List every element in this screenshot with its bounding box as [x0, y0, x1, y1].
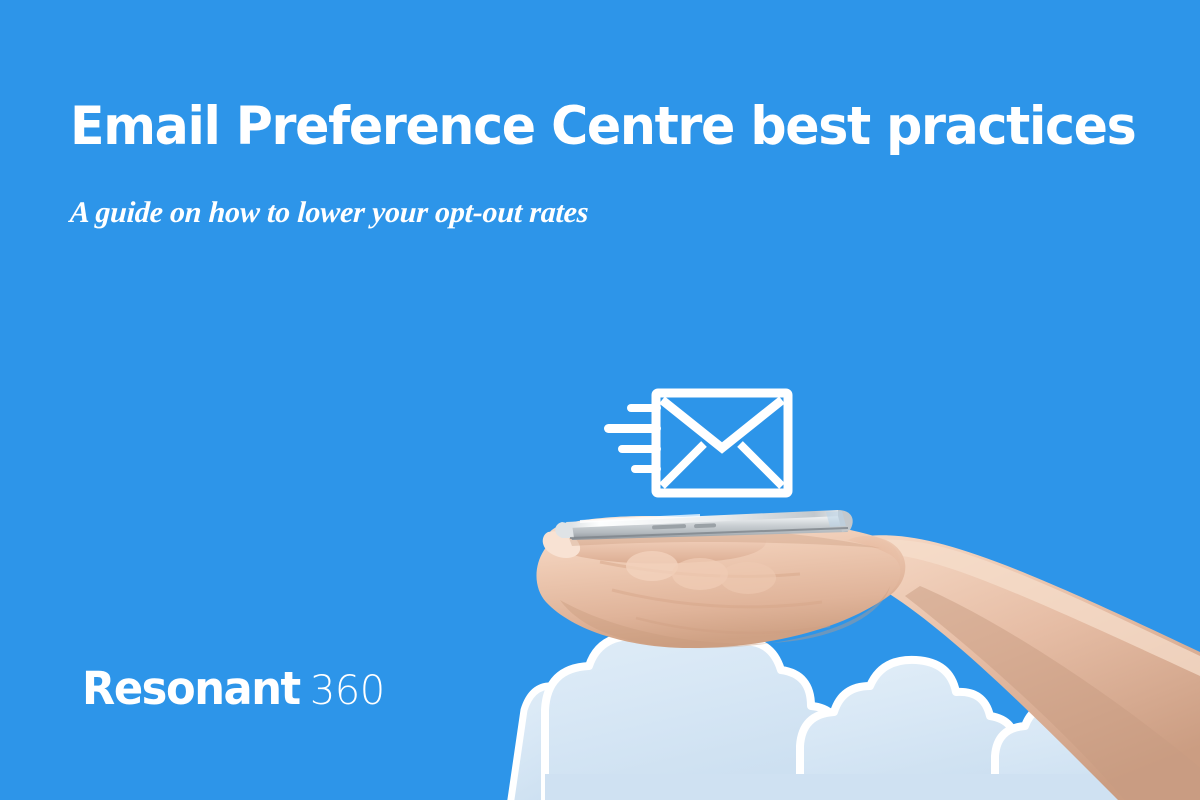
page-title: Email Preference Centre best practices: [70, 96, 1101, 158]
hand-holding-phone-photo: [0, 470, 1200, 800]
envelope-icon: [594, 386, 794, 504]
brand-logo-word: Resonant: [82, 664, 300, 714]
forearm: [868, 535, 1200, 800]
page-subtitle: A guide on how to lower your opt-out rat…: [69, 194, 589, 232]
brand-logo-number: 360: [310, 666, 385, 716]
envelope-body: [656, 393, 788, 493]
brand-logo: Resonant 360: [82, 664, 385, 716]
banner-canvas: Email Preference Centre best practices A…: [0, 0, 1200, 800]
